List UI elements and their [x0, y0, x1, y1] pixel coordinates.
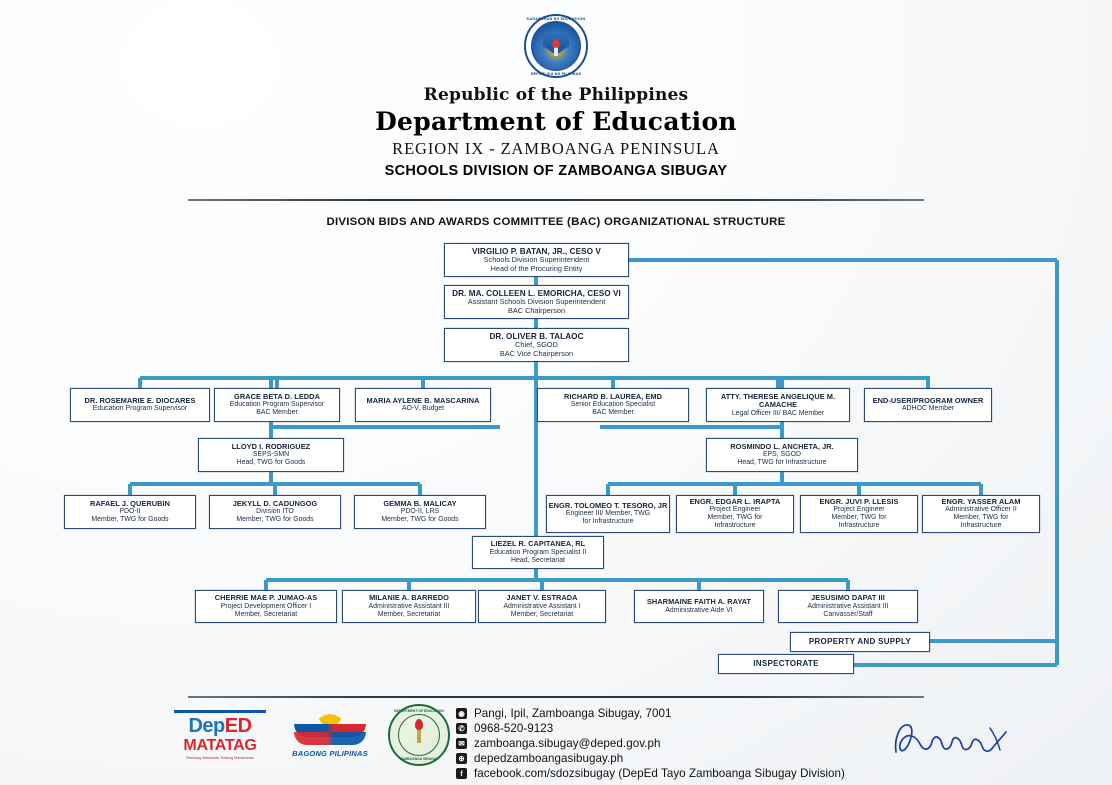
sdo-seal-icon: DEPARTMENT OF EDUCATION ZAMBOANGA SIBUGA… — [388, 704, 450, 766]
org-node-subtitle: PDO-II — [119, 508, 140, 516]
org-node-name: PROPERTY AND SUPPLY — [809, 637, 911, 646]
org-node-m5: ATTY. THERESE ANGELIQUE M. CAMACHELegal … — [706, 388, 850, 422]
org-node-name: ROSMINDO L. ANCHETA, JR. — [730, 443, 833, 451]
org-node-inspect: INSPECTORATE — [718, 654, 854, 674]
org-node-subtitle: PDO-II, LRS — [401, 508, 440, 516]
org-node-subtitle: Member, Secretariat — [511, 611, 573, 619]
org-node-subtitle: BAC Member — [256, 409, 298, 417]
contact-row: ✉zamboanga.sibugay@deped.gov.ph — [456, 736, 845, 751]
org-chart: VIRGILIO P. BATAN, JR., CESO VSchools Di… — [0, 0, 1112, 785]
deped-logo-dep: Dep — [188, 715, 224, 737]
org-node-subtitle: Member, TWG for Goods — [381, 516, 458, 524]
org-node-subtitle: AO-V, Budget — [402, 405, 444, 413]
connector-line — [1055, 260, 1059, 665]
connector-line — [534, 319, 538, 328]
org-node-subtitle: Project Engineer — [709, 506, 760, 514]
org-node-s5: JESUSIMO DAPAT IIIAdministrative Assista… — [778, 590, 918, 623]
org-node-name: ENGR. YASSER ALAM — [941, 498, 1020, 506]
org-node-name: RAFAEL J. QUERUBIN — [90, 500, 170, 508]
org-node-subtitle: Member, Secretariat — [378, 611, 440, 619]
connector-line — [629, 258, 1057, 262]
contact-text: depedzamboangasibugay.ph — [474, 752, 623, 765]
bagong-pilipinas-text: BAGONG PILIPINAS — [288, 749, 372, 758]
connector-line — [930, 639, 1057, 643]
org-node-m4: RICHARD B. LAUREA, EMDSenior Education S… — [537, 388, 689, 422]
connector-line — [418, 484, 422, 495]
org-node-name: JANET V. ESTRADA — [506, 594, 577, 602]
connector-line — [846, 580, 850, 590]
org-node-subtitle: Education Program Supervisor — [230, 401, 324, 409]
org-node-name: GRACE BETA D. LEDDA — [234, 393, 320, 401]
connector-line — [540, 580, 544, 590]
org-node-i1: ENGR. TOLOMEO T. TESORO, JREngineer III/… — [546, 495, 670, 533]
deped-logo-ed: ED — [225, 715, 252, 737]
org-node-subtitle: ADHOC Member — [902, 405, 954, 413]
org-node-name: LIEZEL R. CAPITANEA, RL — [491, 540, 586, 548]
org-node-name: JESUSIMO DAPAT III — [811, 594, 885, 602]
org-node-name: MARIA AYLENE B. MASCARINA — [367, 397, 480, 405]
org-node-subtitle: BAC Member — [592, 409, 634, 417]
connector-line — [857, 484, 861, 495]
signature — [886, 716, 1016, 764]
connector-line — [606, 484, 610, 495]
org-node-subtitle: Head, TWG for Goods — [237, 459, 306, 467]
contact-row: ✆0968-520-9123 — [456, 721, 845, 736]
org-node-s2: MILANIE A. BARREDOAdministrative Assista… — [342, 590, 476, 623]
org-node-s3: JANET V. ESTRADAAdministrative Assistant… — [478, 590, 606, 623]
org-node-m1: DR. ROSEMARIE E. DIOCARESEducation Progr… — [70, 388, 210, 422]
org-node-subtitle: Legal Officer III/ BAC Member — [732, 410, 824, 418]
connector-line — [926, 378, 930, 388]
deped-matatag-logo: DepED MATATAG Bansang Makabata, Batang M… — [168, 710, 272, 759]
connector-line — [421, 378, 425, 388]
org-node-subtitle: Member, TWG for Goods — [91, 516, 168, 524]
connector-line — [275, 378, 279, 388]
matatag-word: MATATAG — [168, 737, 272, 755]
contact-info: ◉Pangi, Ipil, Zamboanga Sibugay, 7001✆09… — [456, 706, 845, 781]
connector-line — [854, 663, 1057, 667]
org-node-name: ENGR. EDGAR L. IRAPTA — [690, 498, 781, 506]
org-node-subtitle: Administrative Assistant III — [808, 603, 889, 611]
org-node-twg_infra: ROSMINDO L. ANCHETA, JR.EPS, SGODHead, T… — [706, 438, 858, 472]
connector-line — [271, 425, 500, 429]
org-node-name: GEMMA B. MALICAY — [383, 500, 456, 508]
connector-line — [600, 425, 782, 429]
org-node-name: INSPECTORATE — [753, 659, 819, 668]
org-node-subtitle: Administrative Officer II — [945, 506, 1017, 514]
org-node-subtitle: Project Development Officer I — [221, 603, 311, 611]
org-node-subtitle: Administrative Aide VI — [665, 607, 732, 615]
org-node-asds: DR. MA. COLLEEN L. EMORICHA, CESO VIAssi… — [444, 285, 629, 319]
org-node-name: DR. ROSEMARIE E. DIOCARES — [85, 397, 196, 405]
bagong-pilipinas-logo: BAGONG PILIPINAS — [288, 712, 372, 758]
connector-line — [697, 580, 701, 590]
org-node-subtitle: Head, TWG for Infrastructure — [737, 459, 826, 467]
org-node-i4: ENGR. YASSER ALAMAdministrative Officer … — [922, 495, 1040, 533]
org-node-m2: GRACE BETA D. LEDDAEducation Program Sup… — [214, 388, 340, 422]
location-icon: ◉ — [456, 708, 467, 719]
org-node-name: LLOYD I. RODRIGUEZ — [232, 443, 311, 451]
contact-text: Pangi, Ipil, Zamboanga Sibugay, 7001 — [474, 707, 672, 720]
org-node-name: END-USER/PROGRAM OWNER — [873, 397, 984, 405]
org-node-property: PROPERTY AND SUPPLY — [790, 632, 930, 652]
org-node-subtitle: Head, Secretariat — [511, 557, 565, 565]
org-node-subtitle: BAC Vice Chairperson — [500, 350, 573, 358]
sun-rays-icon — [292, 712, 368, 746]
org-node-subtitle: Engineer III/ Member, TWG — [566, 510, 650, 518]
org-node-g3: GEMMA B. MALICAYPDO-II, LRSMember, TWG f… — [354, 495, 486, 529]
contact-row: ◉Pangi, Ipil, Zamboanga Sibugay, 7001 — [456, 706, 845, 721]
matatag-tagline: Bansang Makabata, Batang Makabansa — [168, 756, 272, 760]
org-node-subtitle: Head of the Procuring Entity — [491, 265, 583, 273]
contact-text: 0968-520-9123 — [474, 722, 553, 735]
org-node-subtitle: Administrative Assistant I — [503, 603, 580, 611]
contact-text: zamboanga.sibugay@deped.gov.ph — [474, 737, 660, 750]
org-node-name: ENGR. JUVI P. LLESIS — [820, 498, 899, 506]
contact-row: ffacebook.com/sdozsibugay (DepEd Tayo Za… — [456, 766, 845, 781]
sdo-seal-top-text: DEPARTMENT OF EDUCATION — [390, 709, 448, 713]
org-node-sec_head: LIEZEL R. CAPITANEA, RLEducation Program… — [472, 536, 604, 569]
footer-divider — [188, 696, 924, 698]
org-node-subtitle: Infrastructure — [715, 522, 756, 530]
org-node-vice: DR. OLIVER B. TALAOCChief, SGODBAC Vice … — [444, 328, 629, 362]
org-node-twg_goods: LLOYD I. RODRIGUEZSEPS-SMNHead, TWG for … — [198, 438, 344, 472]
org-node-s1: CHERRIE MAE P. JUMAO-ASProject Developme… — [195, 590, 337, 623]
connector-line — [611, 378, 615, 388]
connector-line — [266, 578, 848, 582]
org-node-subtitle: SEPS-SMN — [253, 451, 289, 459]
contact-text: facebook.com/sdozsibugay (DepEd Tayo Zam… — [474, 767, 845, 780]
org-node-subtitle: Member, TWG for — [832, 514, 887, 522]
org-node-name: CHERRIE MAE P. JUMAO-AS — [215, 594, 317, 602]
connector-line — [534, 277, 538, 285]
email-icon: ✉ — [456, 738, 467, 749]
org-node-m3: MARIA AYLENE B. MASCARINAAO-V, Budget — [355, 388, 491, 422]
org-node-subtitle: Infrastructure — [839, 522, 880, 530]
org-node-s4: SHARMAINE FAITH A. RAYATAdministrative A… — [634, 590, 764, 623]
contact-row: ⊕depedzamboangasibugay.ph — [456, 751, 845, 766]
org-node-subtitle: Senior Education Specialist — [571, 401, 655, 409]
connector-line — [273, 484, 277, 495]
connector-line — [264, 580, 268, 590]
facebook-icon: f — [456, 768, 467, 779]
org-node-name: ENGR. TOLOMEO T. TESORO, JR — [549, 502, 668, 510]
org-node-subtitle: Canvasser/Staff — [823, 611, 872, 619]
connector-line — [979, 484, 983, 495]
org-node-i2: ENGR. EDGAR L. IRAPTAProject EngineerMem… — [676, 495, 794, 533]
org-node-subtitle: EPS, SGOD — [763, 451, 801, 459]
connector-line — [128, 484, 132, 495]
connector-line — [138, 378, 142, 388]
org-node-subtitle: Member, TWG for — [708, 514, 763, 522]
org-node-name: MILANIE A. BARREDO — [369, 594, 449, 602]
org-node-subtitle: Member, Secretariat — [235, 611, 297, 619]
document-page: KAGAWARAN NG EDUKASYON REPUBLIKA NG PILI… — [0, 0, 1112, 785]
org-node-subtitle: Infrastructure — [961, 522, 1002, 530]
org-node-g2: JEKYLL D. CADUNGOGDivision ITOMember, TW… — [209, 495, 341, 529]
org-node-subtitle: BAC Chairperson — [508, 307, 565, 315]
org-node-sds: VIRGILIO P. BATAN, JR., CESO VSchools Di… — [444, 243, 629, 277]
org-node-name: RICHARD B. LAUREA, EMD — [564, 393, 662, 401]
org-node-subtitle: Administrative Assistant III — [369, 603, 450, 611]
org-node-name: JEKYLL D. CADUNGOG — [233, 500, 318, 508]
org-node-subtitle: Education Program Specialist II — [490, 549, 587, 557]
connector-line — [608, 482, 981, 486]
org-node-subtitle: Education Program Supervisor — [93, 405, 187, 413]
connector-line — [733, 484, 737, 495]
org-node-i3: ENGR. JUVI P. LLESISProject EngineerMemb… — [800, 495, 918, 533]
org-node-m6: END-USER/PROGRAM OWNERADHOC Member — [864, 388, 992, 422]
org-node-g1: RAFAEL J. QUERUBINPDO-IIMember, TWG for … — [64, 495, 196, 529]
org-node-subtitle: Member, TWG for — [954, 514, 1009, 522]
sdo-seal-bottom-text: ZAMBOANGA SIBUGAY — [390, 757, 448, 761]
org-node-subtitle: for Infrastructure — [583, 518, 634, 526]
footer-logos: DepED MATATAG Bansang Makabata, Batang M… — [168, 704, 450, 766]
org-node-name: ATTY. THERESE ANGELIQUE M. CAMACHE — [707, 393, 849, 410]
phone-icon: ✆ — [456, 723, 467, 734]
org-node-subtitle: Member, TWG for Goods — [236, 516, 313, 524]
org-node-subtitle: Project Engineer — [833, 506, 884, 514]
connector-line — [407, 580, 411, 590]
website-icon: ⊕ — [456, 753, 467, 764]
org-node-subtitle: Division ITO — [256, 508, 294, 516]
org-node-name: SHARMAINE FAITH A. RAYAT — [647, 598, 751, 606]
